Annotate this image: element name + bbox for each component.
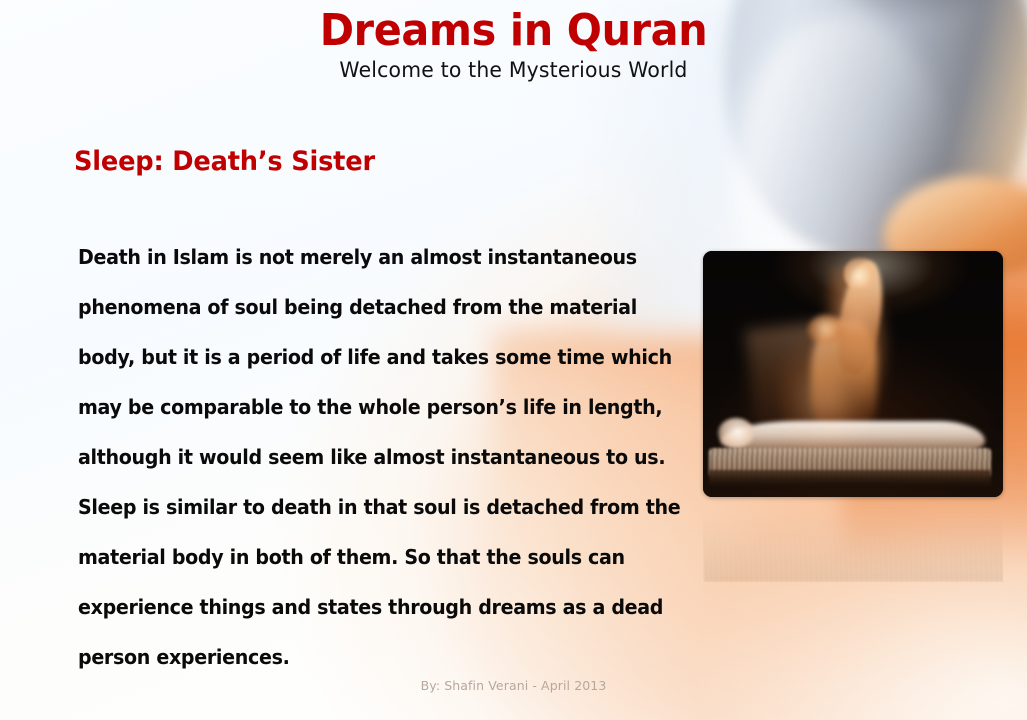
body-line: experience things and states through dre…: [78, 582, 659, 632]
body-line: although it would seem like almost insta…: [78, 432, 659, 482]
body-line: Death in Islam is not merely an almost i…: [78, 232, 659, 282]
soul-hand: [844, 258, 877, 288]
body-line: Sleep is similar to death in that soul i…: [78, 482, 659, 532]
body-line: person experiences.: [78, 632, 659, 682]
photo-reflection: [703, 498, 1003, 582]
presentation-slide: Dreams in Quran Welcome to the Mysteriou…: [0, 0, 1027, 720]
astral-projection-photo: [703, 251, 1003, 497]
section-heading: Sleep: Death’s Sister: [74, 146, 375, 177]
body-line: phenomena of soul being detached from th…: [78, 282, 659, 332]
body-line: may be comparable to the whole person’s …: [78, 382, 659, 432]
mattress-base: [709, 470, 991, 487]
body-line: material body in both of them. So that t…: [78, 532, 659, 582]
reclining-body-head: [718, 418, 754, 448]
body-line: body, but it is a period of life and tak…: [78, 332, 659, 382]
page-title: Dreams in Quran: [31, 8, 996, 54]
photo-reflection-surface: [703, 498, 1003, 582]
page-subtitle: Welcome to the Mysterious World: [15, 58, 1011, 82]
body-text-block: Death in Islam is not merely an almost i…: [78, 232, 703, 682]
slide-header: Dreams in Quran Welcome to the Mysteriou…: [0, 8, 1027, 82]
footer-credit: By: Shafin Verani - April 2013: [0, 678, 1027, 693]
